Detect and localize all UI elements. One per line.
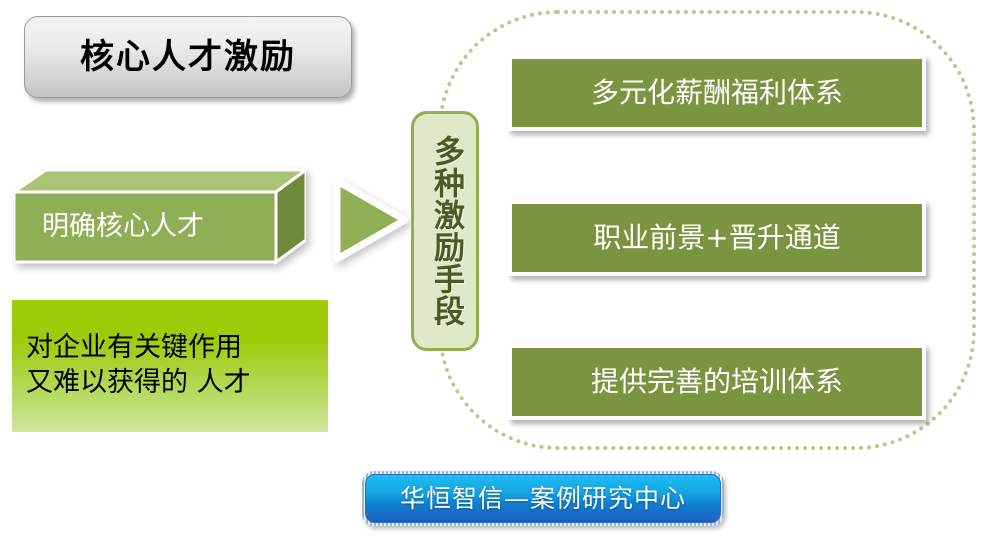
page-title: 核心人才激励 <box>80 40 296 74</box>
cube-label: 明确核心人才 <box>42 213 204 240</box>
measure-box-2[interactable]: 职业前景+晋升通道 <box>508 200 926 276</box>
slide-title-plaque: 核心人才激励 <box>24 16 352 98</box>
footer-banner: 华恒智信—案例研究中心 <box>362 471 724 526</box>
definition-line-1: 对企业有关键作用 <box>26 331 314 366</box>
right-arrow-icon <box>330 174 410 266</box>
measure-box-3[interactable]: 提供完善的培训体系 <box>508 344 926 420</box>
measure-label-2: 职业前景+晋升通道 <box>593 224 840 252</box>
measure-label-3: 提供完善的培训体系 <box>591 368 843 396</box>
measure-label-1: 多元化薪酬福利体系 <box>591 79 843 107</box>
cube-label-wrap: 明确核心人才 <box>14 192 276 260</box>
footer-banner-text: 华恒智信—案例研究中心 <box>400 486 686 511</box>
vertical-category-label: 多种激励手段 <box>411 111 479 351</box>
slide-canvas: 核心人才激励 明确核心人才 对企业有关键作用 又难以获得的 人才 多种激励手段 … <box>0 0 989 544</box>
definition-line-2: 又难以获得的 人才 <box>26 366 314 401</box>
core-talent-definition: 对企业有关键作用 又难以获得的 人才 <box>12 300 328 432</box>
measure-box-1[interactable]: 多元化薪酬福利体系 <box>508 55 926 131</box>
core-talent-cube: 明确核心人才 <box>14 168 306 268</box>
vertical-label-text: 多种激励手段 <box>427 135 463 327</box>
footer-banner-inner: 华恒智信—案例研究中心 <box>365 474 721 523</box>
